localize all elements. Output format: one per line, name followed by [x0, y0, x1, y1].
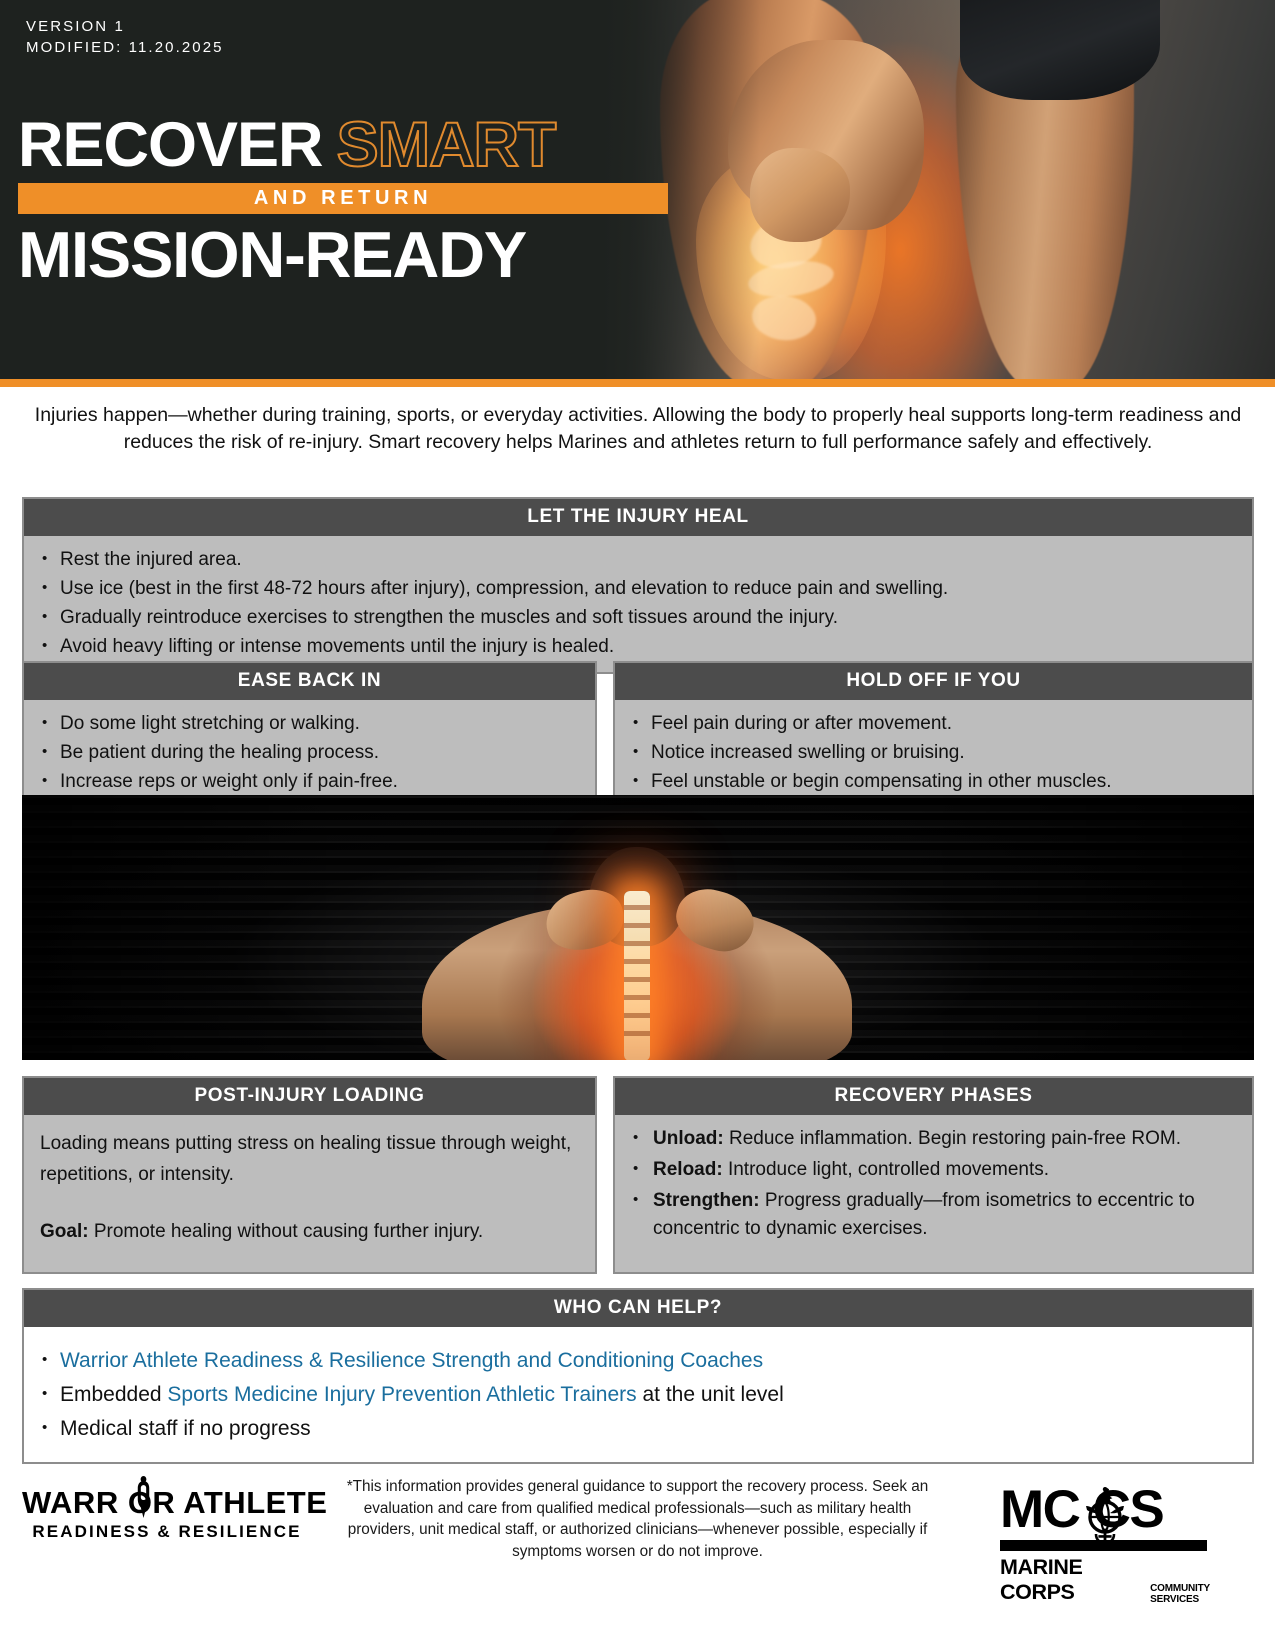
panel-ease-heading: EASE BACK IN [24, 663, 595, 700]
mccs-logo: MC CS MARINE CORPS COMMUNITY SERVICES [1000, 1482, 1210, 1605]
panel-loading-heading: POST-INJURY LOADING [24, 1078, 595, 1115]
photo-shorts [960, 0, 1160, 100]
panel-who-can-help: WHO CAN HELP? Warrior Athlete Readiness … [22, 1288, 1254, 1464]
list-item: Strengthen: Progress gradually—from isom… [629, 1187, 1238, 1243]
poster-page: VERSION 1 MODIFIED: 11.20.2025 RECOVERSM… [0, 0, 1275, 1650]
phase-text: Introduce light, controlled movements. [723, 1159, 1049, 1180]
panel-heal-body: Rest the injured area. Use ice (best in … [24, 536, 1252, 672]
title-smart: SMART [337, 110, 556, 180]
who-post: at the unit level [637, 1383, 784, 1406]
goal-text: Promote healing without causing further … [89, 1221, 484, 1242]
who-link[interactable]: Warrior Athlete Readiness & Resilience S… [60, 1349, 763, 1372]
panel-let-the-injury-heal: LET THE INJURY HEAL Rest the injured are… [22, 497, 1254, 674]
list-item: Be patient during the healing process. [38, 738, 581, 767]
phase-label: Reload: [653, 1159, 723, 1180]
list-item: Feel pain during or after movement. [629, 709, 1238, 738]
mccs-marine-corps-text: MARINE CORPS [1000, 1555, 1144, 1605]
warrior-athlete-tagline: READINESS & RESILIENCE [22, 1522, 312, 1542]
ease-list: Do some light stretching or walking. Be … [38, 709, 581, 796]
title-recover: RECOVER [18, 110, 323, 180]
hero-title: RECOVERSMART AND RETURN MISSION-READY [18, 112, 668, 290]
version-block: VERSION 1 MODIFIED: 11.20.2025 [26, 16, 224, 58]
hero-banner: VERSION 1 MODIFIED: 11.20.2025 RECOVERSM… [0, 0, 1275, 379]
list-item: Unload: Reduce inflammation. Begin resto… [629, 1125, 1238, 1153]
warrior-athlete-text: WARR OR ATHLETE [22, 1485, 327, 1520]
intro-paragraph: Injuries happen—whether during training,… [22, 402, 1254, 456]
panel-who-body: Warrior Athlete Readiness & Resilience S… [24, 1327, 1252, 1462]
who-list: Warrior Athlete Readiness & Resilience S… [38, 1344, 1238, 1446]
warrior-athlete-logo: WARR OR ATHLETE READINESS & RESILIENCE [22, 1486, 312, 1542]
list-item: Rest the injured area. [38, 545, 1238, 574]
list-item: Warrior Athlete Readiness & Resilience S… [38, 1344, 1238, 1378]
panel-hold-body: Feel pain during or after movement. Noti… [615, 700, 1252, 807]
hold-list: Feel pain during or after movement. Noti… [629, 709, 1238, 796]
photo-hand [750, 148, 850, 242]
list-item: Reload: Introduce light, controlled move… [629, 1156, 1238, 1184]
panel-ease-back-in: EASE BACK IN Do some light stretching or… [22, 661, 597, 809]
mccs-community-line: COMMUNITY [1150, 1583, 1210, 1594]
footer: WARR OR ATHLETE READINESS & RESILIENCE *… [0, 1468, 1275, 1650]
list-item: Avoid heavy lifting or intense movements… [38, 632, 1238, 661]
photo-spine-glow [624, 891, 650, 1060]
list-item: Do some light stretching or walking. [38, 709, 581, 738]
panel-hold-off-if-you: HOLD OFF IF YOU Feel pain during or afte… [613, 661, 1254, 809]
spine-injury-photo [22, 795, 1254, 1060]
disclaimer-text: *This information provides general guida… [335, 1476, 940, 1562]
title-band-label: AND RETURN [254, 187, 432, 210]
goal-label: Goal: [40, 1221, 89, 1242]
panel-recovery-phases: RECOVERY PHASES Unload: Reduce inflammat… [613, 1076, 1254, 1274]
panel-phases-heading: RECOVERY PHASES [615, 1078, 1252, 1115]
phase-text: Reduce inflammation. Begin restoring pai… [724, 1128, 1181, 1149]
who-pre: Embedded [60, 1383, 167, 1406]
phases-list: Unload: Reduce inflammation. Begin resto… [629, 1125, 1238, 1243]
version-label: VERSION 1 [26, 16, 224, 37]
panel-ease-body: Do some light stretching or walking. Be … [24, 700, 595, 807]
loading-goal: Goal: Promote healing without causing fu… [40, 1216, 579, 1247]
mccs-services-line: SERVICES [1150, 1594, 1199, 1605]
panel-who-heading: WHO CAN HELP? [24, 1290, 1252, 1327]
list-item: Notice increased swelling or bruising. [629, 738, 1238, 767]
phase-label: Strengthen: [653, 1190, 760, 1211]
title-band: AND RETURN [18, 183, 668, 214]
list-item: Embedded Sports Medicine Injury Preventi… [38, 1378, 1238, 1412]
list-item: Medical staff if no progress [38, 1412, 1238, 1446]
spartan-helmet-icon [133, 1475, 154, 1519]
hero-orange-rule [0, 379, 1275, 387]
heal-list: Rest the injured area. Use ice (best in … [38, 545, 1238, 661]
loading-description: Loading means putting stress on healing … [40, 1128, 579, 1190]
eagle-globe-anchor-icon [1074, 1484, 1136, 1546]
panel-post-injury-loading: POST-INJURY LOADING Loading means puttin… [22, 1076, 597, 1274]
title-mission-ready: MISSION-READY [18, 220, 668, 290]
phase-label: Unload: [653, 1128, 724, 1149]
title-line-one: RECOVERSMART [18, 112, 668, 178]
mccs-wordmark: MC CS [1000, 1482, 1210, 1538]
list-item: Increase reps or weight only if pain-fre… [38, 767, 581, 796]
warrior-athlete-wordmark: WARR OR ATHLETE [22, 1486, 327, 1520]
panel-heal-heading: LET THE INJURY HEAL [24, 499, 1252, 536]
who-link[interactable]: Sports Medicine Injury Prevention Athlet… [167, 1383, 636, 1406]
panel-loading-body: Loading means putting stress on healing … [24, 1115, 595, 1260]
mccs-subtitle: MARINE CORPS COMMUNITY SERVICES [1000, 1555, 1210, 1605]
list-item: Feel unstable or begin compensating in o… [629, 767, 1238, 796]
modified-label: MODIFIED: 11.20.2025 [26, 37, 224, 58]
panel-phases-body: Unload: Reduce inflammation. Begin resto… [615, 1115, 1252, 1254]
list-item: Use ice (best in the first 48-72 hours a… [38, 574, 1238, 603]
mccs-community-services-text: COMMUNITY SERVICES [1150, 1583, 1210, 1605]
panel-hold-heading: HOLD OFF IF YOU [615, 663, 1252, 700]
list-item: Gradually reintroduce exercises to stren… [38, 603, 1238, 632]
who-pre: Medical staff if no progress [60, 1417, 311, 1440]
